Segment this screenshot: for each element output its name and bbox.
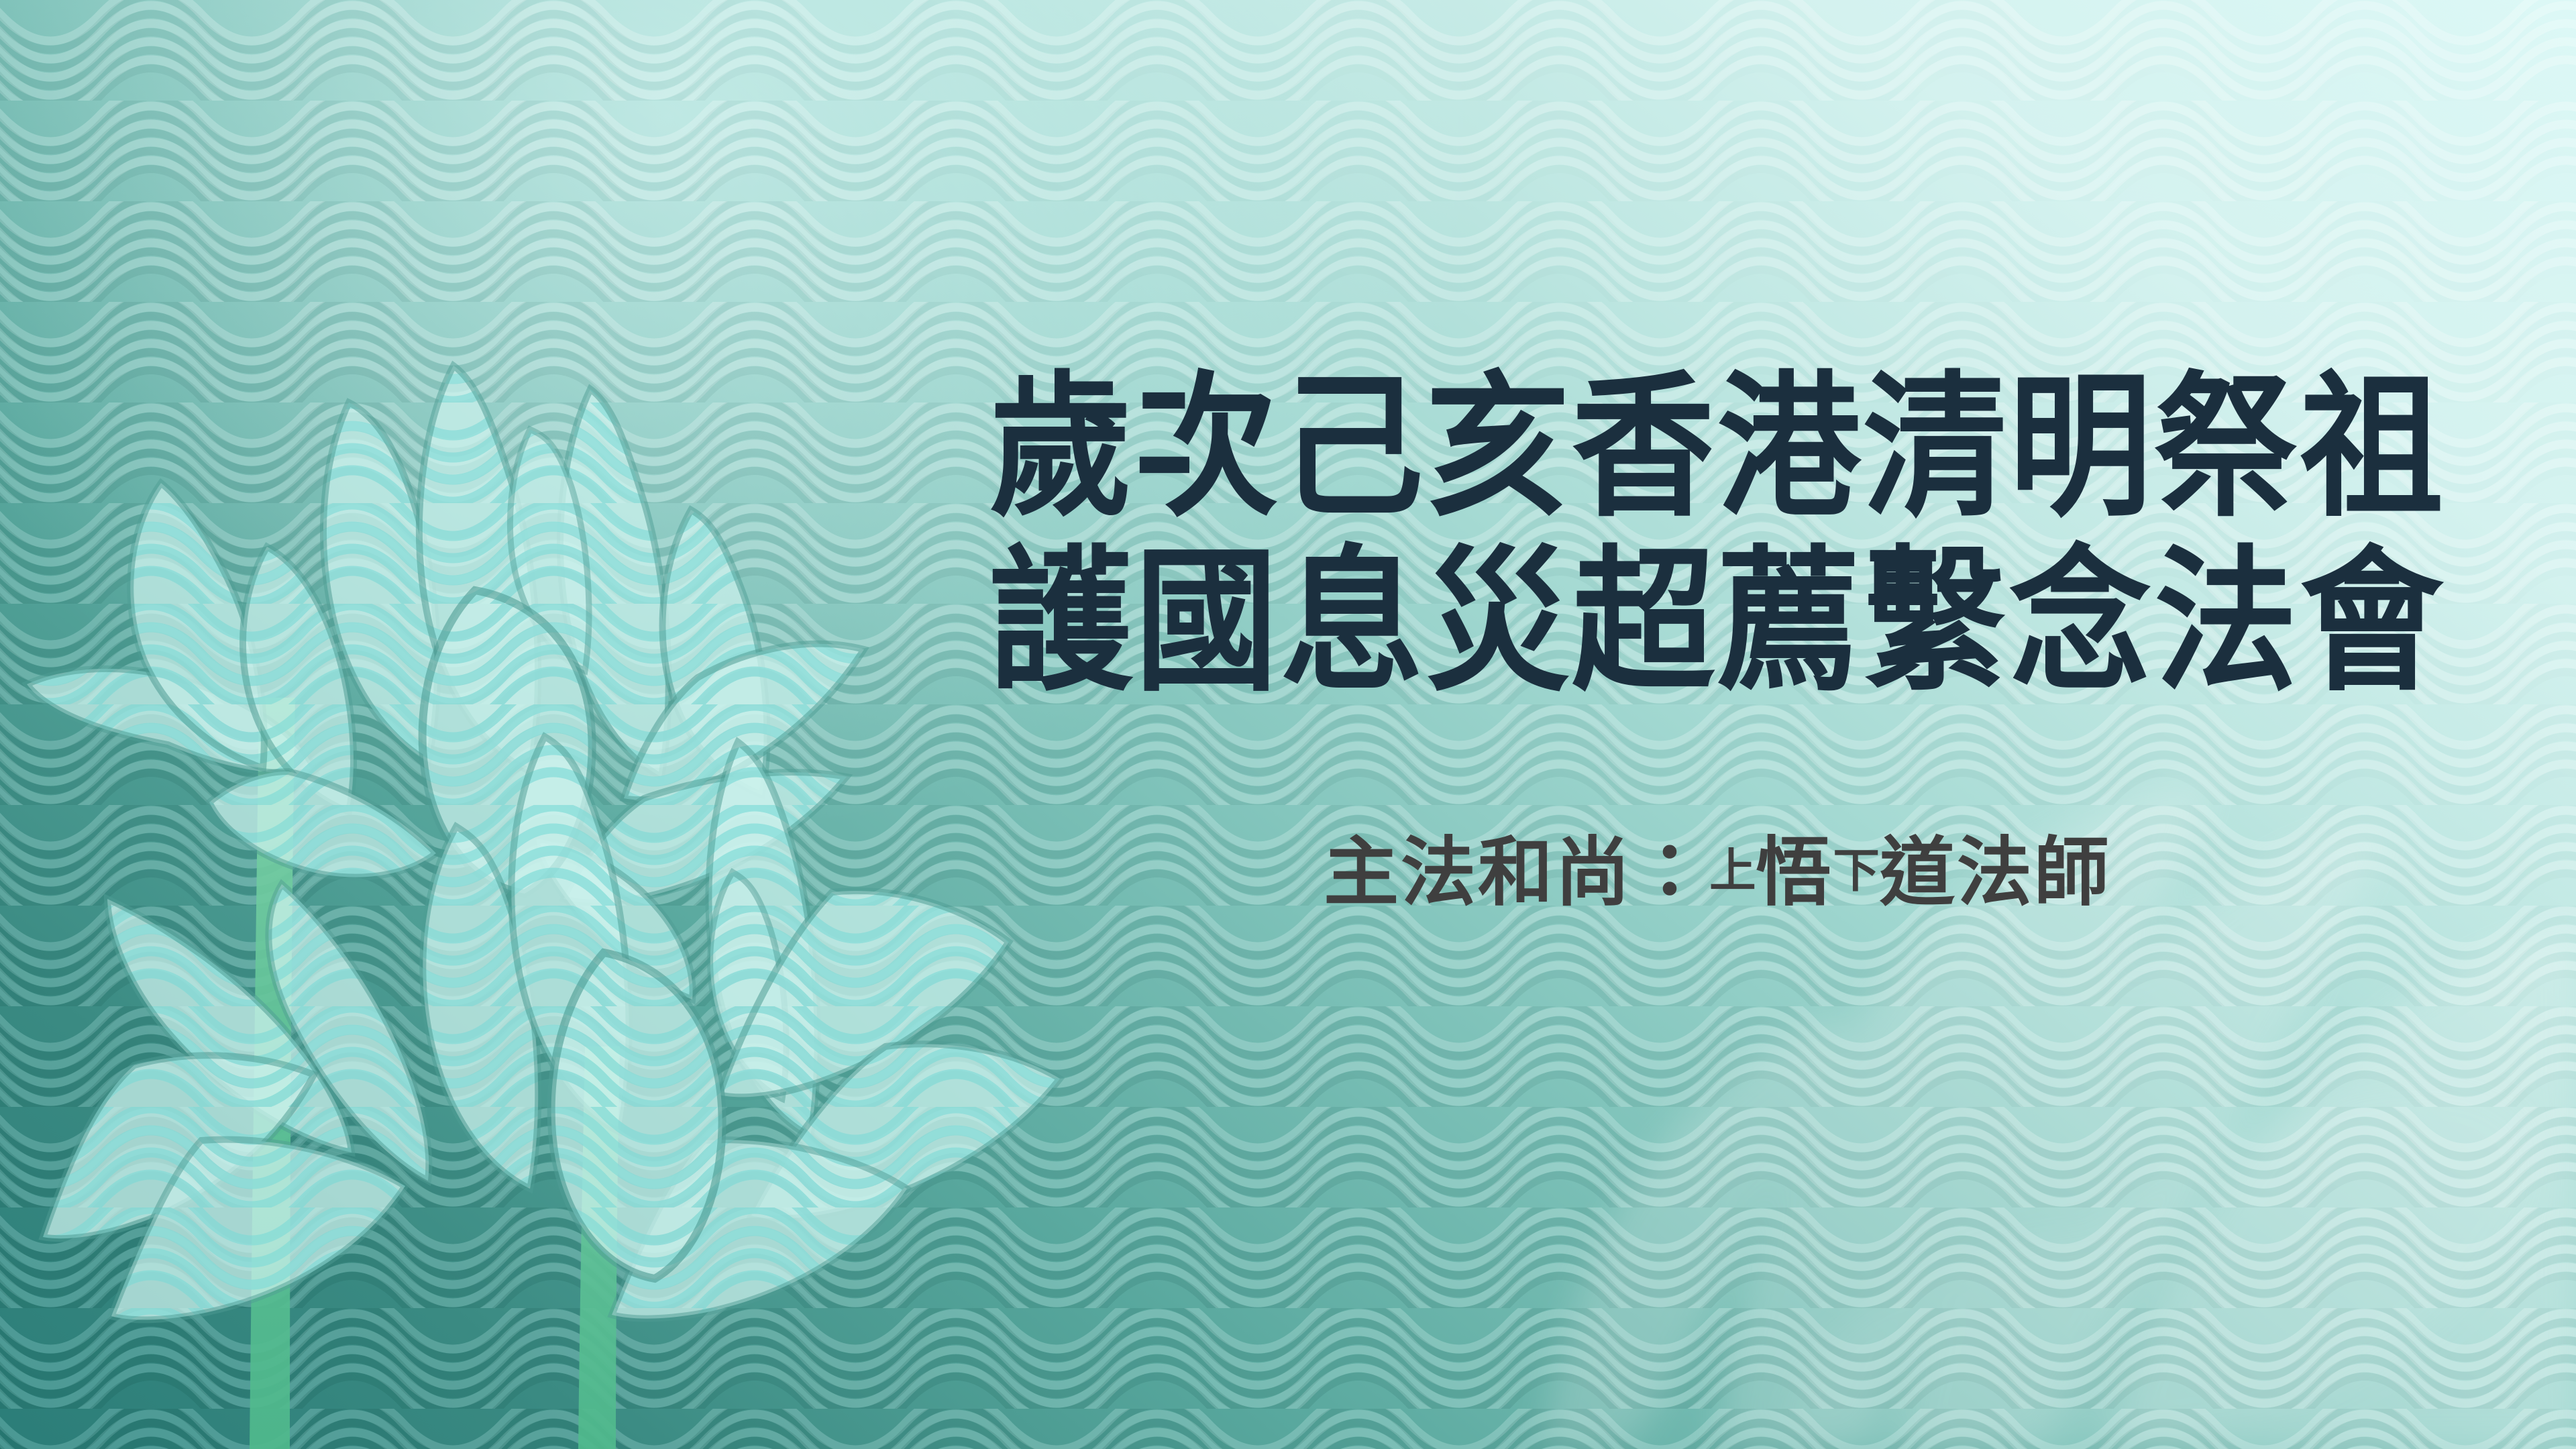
honorific-lower-character: 下 [1833, 844, 1880, 896]
text-block: 歲次己亥香港清明祭祖 護國息災超薦繫念法會 主法和尚：上悟下道法師 [926, 362, 2509, 920]
dharma-title-suffix: 法師 [1957, 830, 2111, 914]
presiding-monk-line: 主法和尚：上悟下道法師 [926, 812, 2509, 920]
dharma-name-char-2: 道 [1880, 830, 1957, 914]
ceremony-title-slide: 歲次己亥香港清明祭祖 護國息災超薦繫念法會 主法和尚：上悟下道法師 [0, 0, 2576, 1449]
title-line-1: 歲次己亥香港清明祭祖 [989, 362, 2445, 537]
dharma-name-char-1: 悟 [1756, 830, 1833, 914]
honorific-upper-character: 上 [1709, 844, 1756, 896]
title-line-2: 護國息災超薦繫念法會 [989, 537, 2445, 711]
presiding-monk-label: 主法和尚： [1324, 830, 1709, 914]
